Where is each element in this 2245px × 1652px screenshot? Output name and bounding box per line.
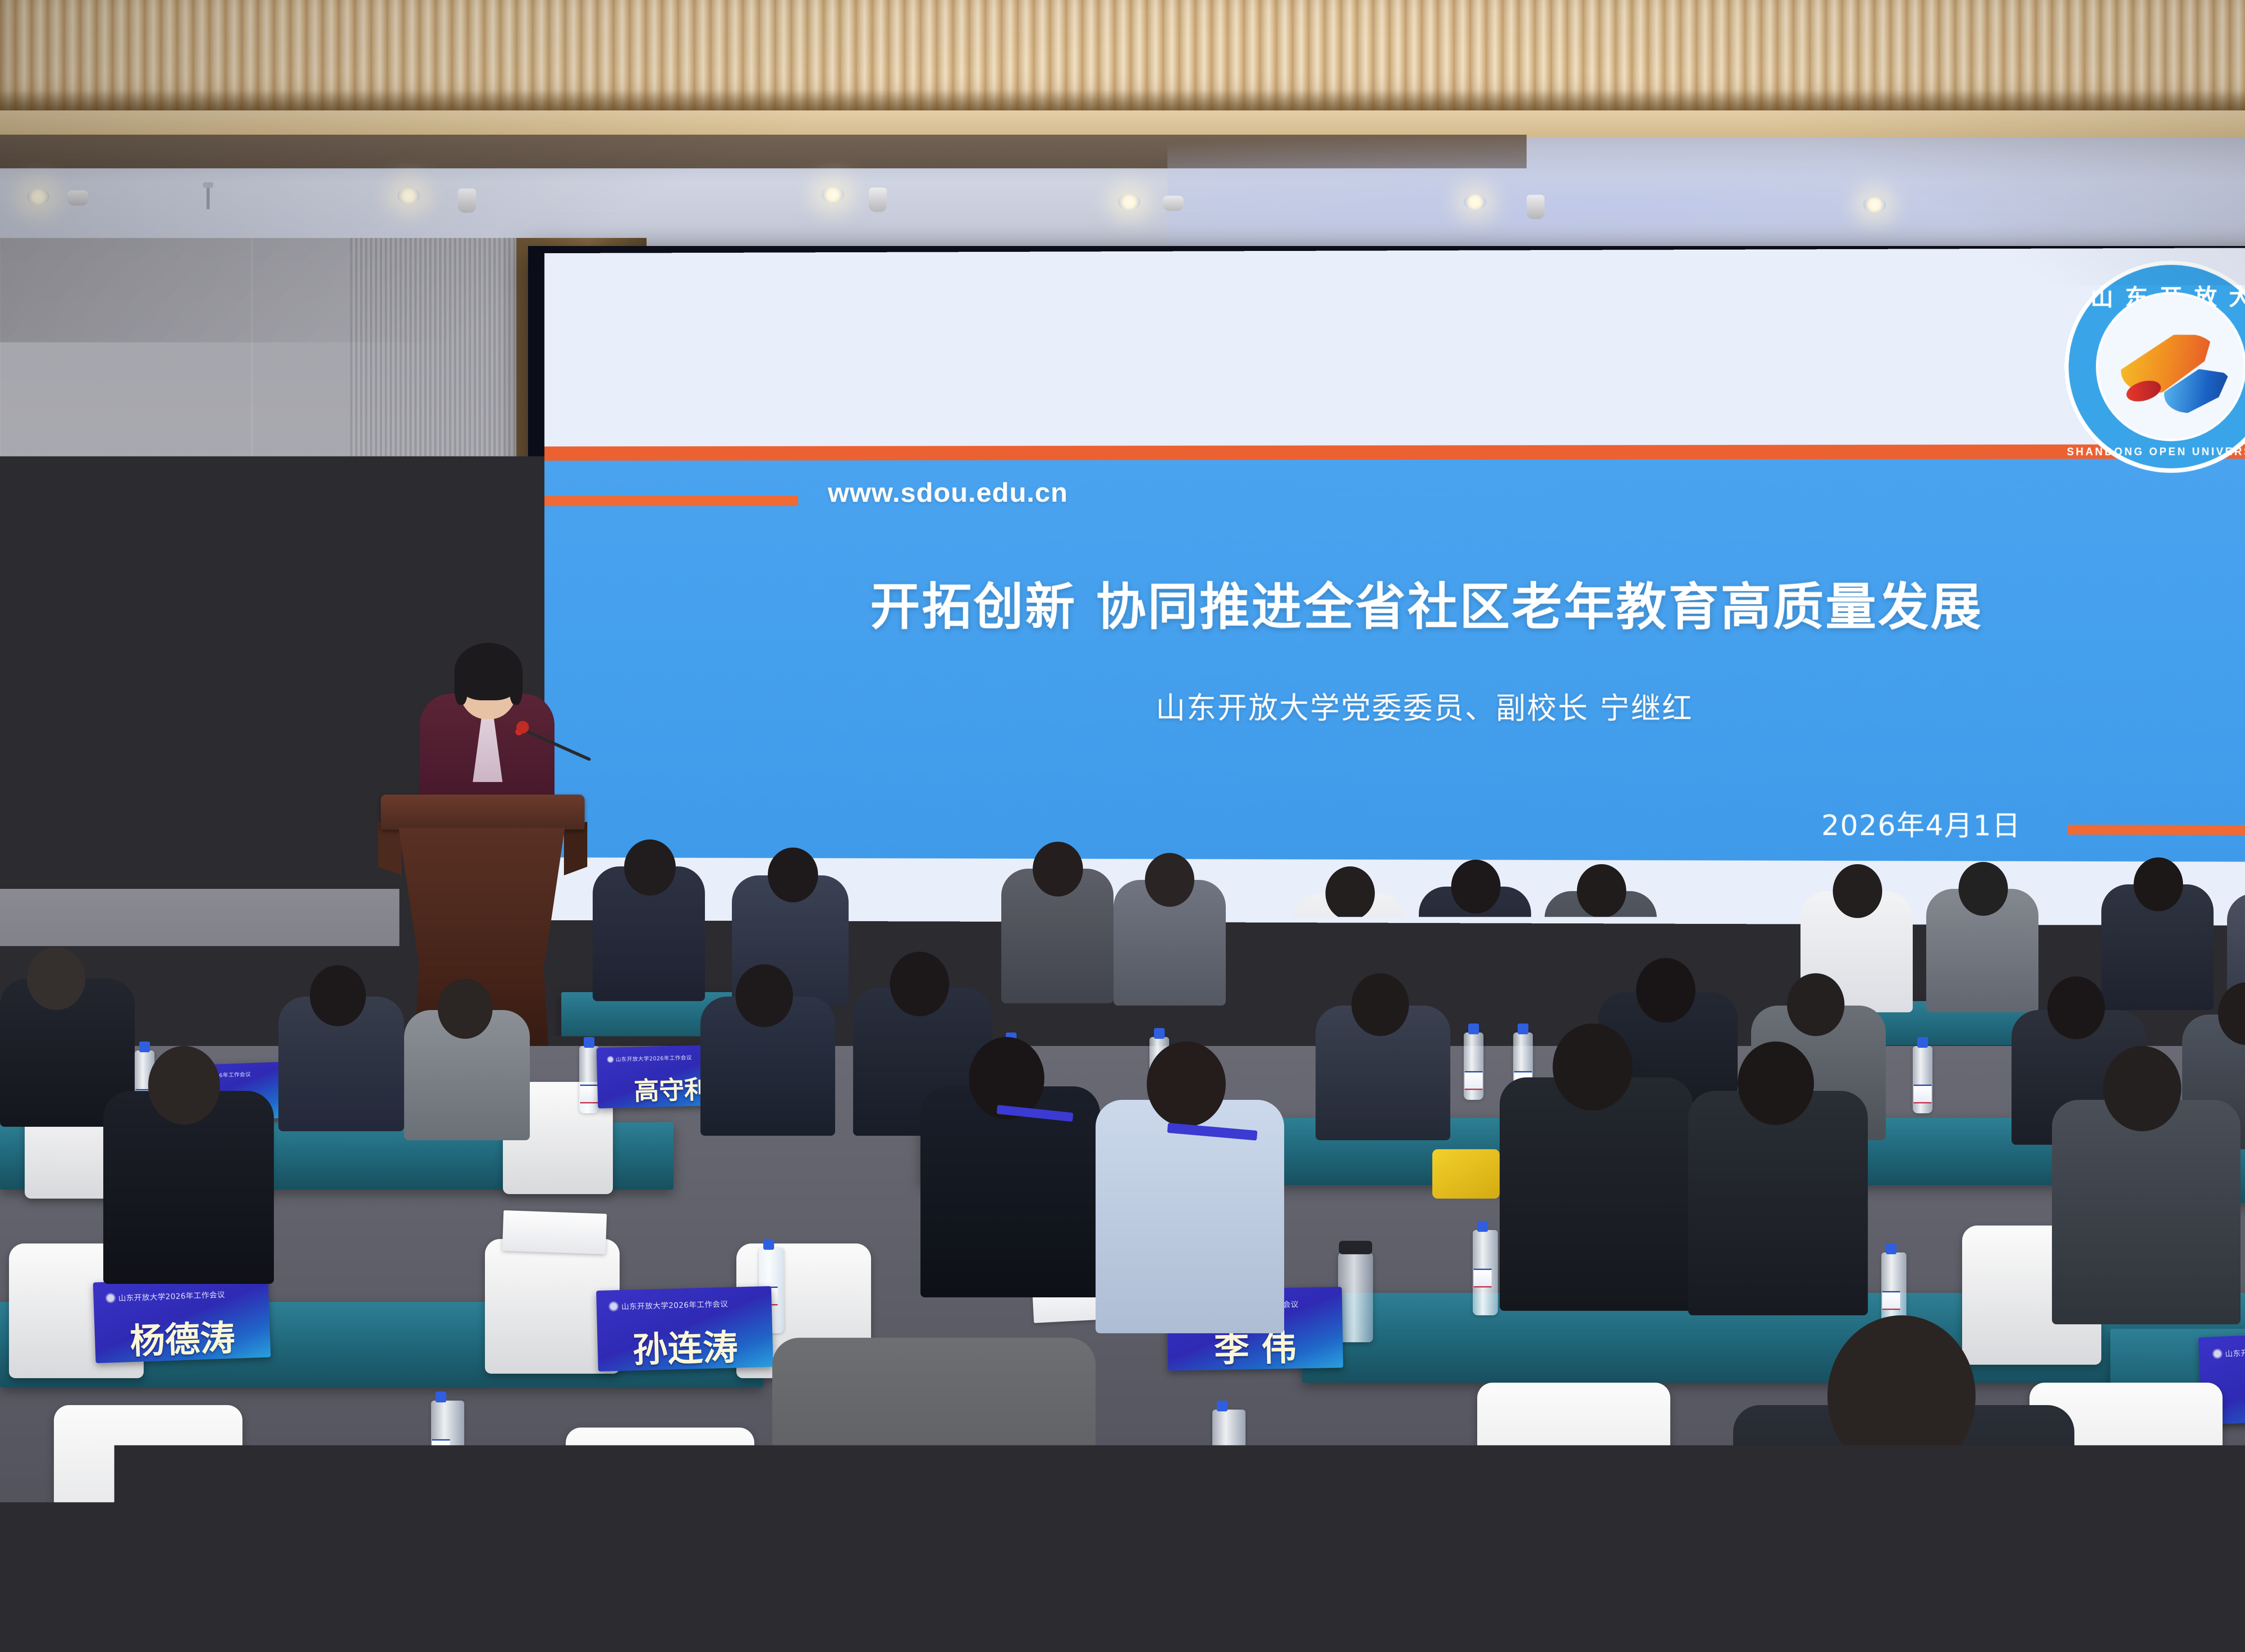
attendee-head — [310, 965, 366, 1026]
attendee-head — [2103, 1046, 2181, 1131]
water-bottle — [1913, 1046, 1932, 1113]
nameplate-header: 山东开放大学2026年工作会议 — [207, 1510, 397, 1528]
attendee-head — [1738, 1041, 1814, 1125]
ceiling-slat-shadow — [0, 90, 2245, 113]
downlight-icon — [1863, 197, 1886, 213]
attendee-head — [624, 839, 676, 896]
nameplate-logo-icon — [607, 1056, 614, 1063]
water-bottle — [431, 1401, 464, 1513]
attendee-head — [438, 979, 493, 1039]
nameplate-name: 杨德涛 — [94, 1309, 271, 1363]
slide-date-accent-bar — [2068, 825, 2245, 835]
projection-screen: www.sdou.edu.cn 开拓创新 协同推进全省社区老年教育高质量发展 山… — [545, 248, 2245, 926]
ceiling-speaker-icon — [869, 188, 887, 212]
conference-photo: www.sdou.edu.cn 开拓创新 协同推进全省社区老年教育高质量发展 山… — [0, 0, 2245, 1652]
nameplate-logo-icon — [2212, 1349, 2223, 1359]
water-bottle — [1212, 1410, 1246, 1522]
nameplate-name: 孙连涛 — [597, 1318, 774, 1371]
yellow-bag — [1432, 1149, 1500, 1199]
attendee-head — [2134, 857, 2183, 911]
downlight-icon — [397, 188, 420, 204]
chair — [566, 1428, 754, 1616]
attendee-head — [858, 1230, 1001, 1387]
logo-inner-disc — [2096, 292, 2245, 441]
attendee-head — [768, 848, 818, 902]
attendee-head — [1145, 853, 1194, 907]
attendee-head — [1787, 973, 1844, 1036]
thermos-flask — [1338, 1252, 1373, 1342]
slide-title: 开拓创新 协同推进全省社区老年教育高质量发展 — [545, 567, 2245, 640]
nameplate: 山东开放大学2026年工作会议 孙连涛 — [596, 1286, 774, 1371]
podium-top — [381, 795, 585, 830]
nameplate-logo-icon — [106, 1293, 116, 1303]
microphone-icon — [516, 721, 529, 734]
ceiling-trim-band — [0, 110, 2245, 138]
nameplate-logo-icon — [1509, 1539, 1519, 1549]
attendee-head — [1636, 958, 1695, 1023]
attendee-head — [1553, 1024, 1633, 1111]
document-paper — [502, 1210, 607, 1254]
attendee-head — [1351, 973, 1409, 1036]
attendee-head — [1325, 866, 1375, 920]
podium-wing-right — [564, 822, 587, 875]
attendee-head — [1451, 860, 1501, 914]
attendee-head — [27, 947, 85, 1010]
slide-url: www.sdou.edu.cn — [828, 477, 1068, 509]
downlight-icon — [27, 189, 49, 205]
attendee-head — [1147, 1041, 1226, 1127]
nameplate: 山东开放大学2026年工作会议 杨德涛 — [93, 1276, 271, 1363]
nameplate-header: 山东开放大学2026年工作会议 — [106, 1287, 260, 1304]
slide-subtitle: 山东开放大学党委委员、副校长 宁继红 — [545, 683, 2245, 728]
ceiling-speaker-icon — [1527, 195, 1545, 219]
water-bottle — [1464, 1032, 1483, 1100]
nameplate-header: 山东开放大学2026年工作会议 — [609, 1297, 763, 1312]
slide-top-band — [545, 248, 2245, 447]
attendee — [2052, 1100, 2241, 1324]
nameplate-logo-icon — [609, 1301, 619, 1312]
downlight-icon — [1464, 194, 1486, 210]
attendee-head — [1577, 864, 1626, 918]
downlight-icon — [822, 187, 844, 203]
attendee-head — [1033, 842, 1083, 896]
smoke-detector-icon — [67, 190, 88, 206]
attendee-head — [890, 952, 949, 1016]
slide-orange-divider — [545, 444, 2245, 461]
attendee-head — [148, 1046, 220, 1125]
smoke-detector-icon — [1163, 196, 1184, 211]
nameplate-logo-icon — [207, 1517, 217, 1527]
attendee-foreground — [0, 1535, 251, 1652]
slide-date: 2026年4月1日 — [1822, 803, 2021, 844]
attendee-head — [735, 964, 793, 1027]
downlight-icon — [1118, 194, 1140, 210]
nameplate-header: 山东开放大学2026年工作会议 — [2212, 1341, 2245, 1359]
attendee-head — [1959, 862, 2008, 916]
ceiling-rod — [207, 186, 210, 209]
water-bottle — [579, 1046, 599, 1113]
ceiling-light-glow — [1167, 135, 2245, 256]
attendee-head — [2047, 976, 2105, 1039]
attendee — [1500, 1077, 1693, 1311]
water-bottle — [1473, 1230, 1498, 1315]
attendee-head — [1833, 864, 1882, 918]
podium-body — [399, 828, 565, 962]
slide-url-accent-bar — [545, 496, 798, 506]
speaker-hair-left — [454, 663, 468, 705]
attendee-head — [1827, 1315, 1976, 1477]
nameplate: 山东开放大学2026年工作会议 郎以军 — [1494, 1519, 1712, 1632]
nameplate-name: 郎以军 — [1495, 1562, 1712, 1632]
ceiling-speaker-icon — [458, 189, 476, 213]
logo-english-text: SHANDONG OPEN UNIVERSITY — [2064, 446, 2245, 458]
speaker-hair-right — [509, 663, 523, 705]
slide-blue-body — [545, 459, 2245, 862]
nameplate-header: 山东开放大学2026年工作会议 — [1509, 1533, 1699, 1550]
podium-wing-left — [378, 822, 401, 875]
